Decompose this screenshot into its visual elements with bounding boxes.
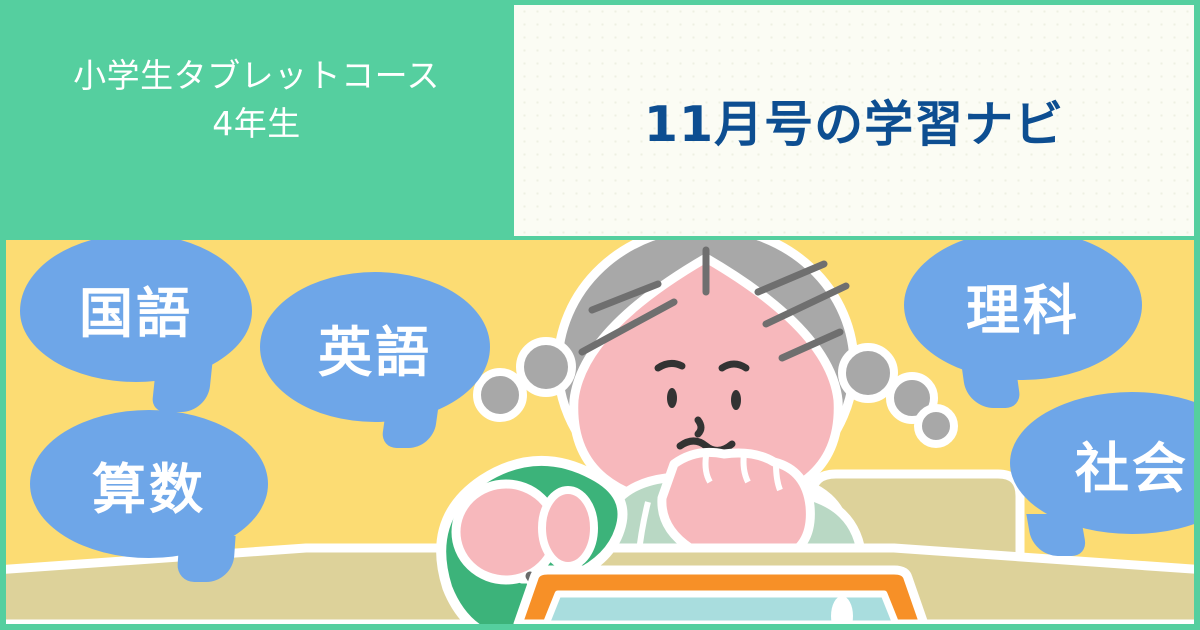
banner-canvas: 小学生タブレットコース 4年生 11月号の学習ナビ (0, 0, 1200, 630)
subject-bubble-label: 国語 (79, 269, 193, 348)
illustration-area: 国語 英語 算数 理科 社会 (6, 240, 1194, 624)
course-label: 小学生タブレットコース 4年生 (0, 52, 513, 148)
subject-bubble-kokugo[interactable]: 国語 (20, 240, 252, 382)
hair-tie-right-lower (918, 408, 954, 444)
hair-tie-left-lower (477, 372, 523, 418)
thumb (542, 490, 594, 566)
subject-bubble-label: 理科 (966, 266, 1080, 345)
subject-bubble-eigo[interactable]: 英語 (260, 272, 490, 422)
subject-bubble-label: 社会 (1075, 424, 1189, 503)
subject-bubble-sansu[interactable]: 算数 (30, 410, 268, 558)
nose (698, 420, 701, 434)
hair-tie-right-upper (842, 347, 894, 399)
hair-tie-left-upper (520, 341, 572, 393)
subject-bubble-label: 算数 (92, 445, 206, 524)
header-band: 小学生タブレットコース 4年生 11月号の学習ナビ (0, 0, 1200, 240)
subject-bubble-label: 英語 (318, 308, 432, 387)
title-card: 11月号の学習ナビ (514, 5, 1194, 236)
page-title: 11月号の学習ナビ (644, 85, 1064, 156)
